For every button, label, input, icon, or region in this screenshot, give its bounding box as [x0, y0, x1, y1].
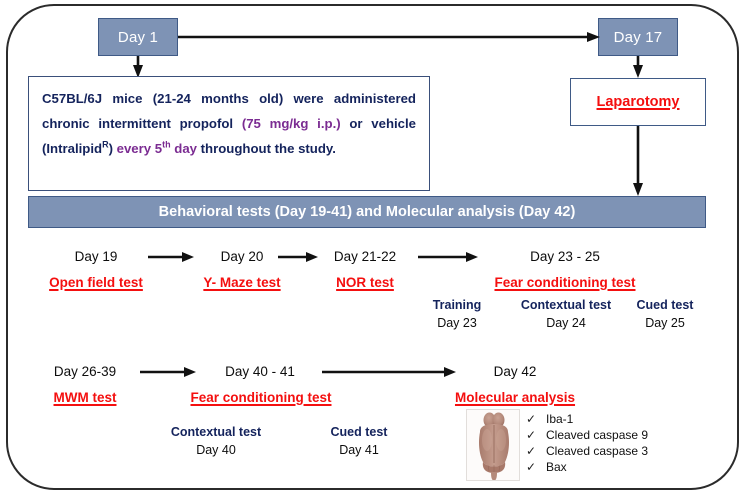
protocol-seg-close: )	[109, 141, 117, 156]
t2-sub-1-name: Cued test	[316, 423, 402, 441]
protocol-text: C57BL/6J mice (21-24 months old) were ad…	[42, 86, 416, 161]
t1-step-2-test: NOR test	[308, 274, 422, 292]
marker-label: Cleaved caspase 9	[546, 428, 648, 443]
laparotomy-label: Laparotomy	[597, 94, 680, 110]
t1-step-0-day: Day 19	[42, 248, 150, 266]
arrow-laparotomy-to-banner	[631, 126, 645, 196]
t2-step-0-day: Day 26-39	[30, 363, 140, 381]
check-icon: ✓	[526, 444, 546, 459]
t2-step-1-test: Fear conditioning test	[148, 389, 374, 407]
arrow-day17-to-laparotomy	[631, 56, 645, 78]
day17-box: Day 17	[598, 18, 678, 56]
t1-sub-1-name: Contextual test	[508, 296, 624, 314]
t1-sub-0-day: Day 23	[410, 314, 504, 332]
protocol-seg-every5: every 5	[117, 141, 162, 156]
t2-step-1-day: Day 40 - 41	[198, 363, 322, 381]
protocol-seg-dose: (75 mg/kg i.p.)	[242, 116, 341, 131]
list-item: ✓ Bax	[526, 460, 716, 475]
protocol-seg-day: day	[171, 141, 197, 156]
t2-sub-0-day: Day 40	[158, 441, 274, 459]
behavioral-tests-banner: Behavioral tests (Day 19-41) and Molecul…	[28, 196, 706, 228]
arrow-day1-to-day17	[178, 30, 600, 44]
t1-step-2-day: Day 21-22	[310, 248, 420, 266]
marker-label: Cleaved caspase 3	[546, 444, 648, 459]
t1-step-1-test: Y- Maze test	[178, 274, 306, 292]
t2-step-2-test: Molecular analysis	[420, 389, 610, 407]
t2-step-0-test: MWM test	[32, 389, 138, 407]
day17-label: Day 17	[614, 29, 663, 46]
t2-sub-0-name: Contextual test	[158, 423, 274, 441]
t1-step-3-day: Day 23 - 25	[490, 248, 640, 266]
check-icon: ✓	[526, 412, 546, 427]
arrow-day1-to-protocol	[131, 56, 145, 78]
t1-step-3-test: Fear conditioning test	[452, 274, 678, 292]
t2-arrow-1	[322, 365, 456, 379]
protocol-seg-tail: throughout the study.	[197, 141, 336, 156]
t1-sub-1-day: Day 24	[508, 314, 624, 332]
t2-sub-1-day: Day 41	[316, 441, 402, 459]
t1-step-0-test: Open field test	[32, 274, 160, 292]
day1-label: Day 1	[118, 29, 158, 46]
check-icon: ✓	[526, 428, 546, 443]
molecular-marker-checklist: ✓ Iba-1 ✓ Cleaved caspase 9 ✓ Cleaved ca…	[526, 412, 716, 475]
list-item: ✓ Iba-1	[526, 412, 716, 427]
list-item: ✓ Cleaved caspase 9	[526, 428, 716, 443]
protocol-sup-th: th	[162, 140, 171, 150]
t1-sub-2-name: Cued test	[622, 296, 708, 314]
t2-step-2-day: Day 42	[460, 363, 570, 381]
check-icon: ✓	[526, 460, 546, 475]
figure-canvas: Day 1 Day 17 Laparotomy	[0, 0, 750, 497]
brain-illustration	[467, 410, 520, 481]
t1-arrow-0	[148, 250, 194, 264]
day1-box: Day 1	[98, 18, 178, 56]
t1-arrow-2	[418, 250, 478, 264]
banner-label: Behavioral tests (Day 19-41) and Molecul…	[159, 204, 576, 220]
protocol-description-box: C57BL/6J mice (21-24 months old) were ad…	[28, 76, 430, 191]
mouse-brain-image	[466, 409, 520, 481]
t1-sub-0-name: Training	[410, 296, 504, 314]
t2-arrow-0	[140, 365, 196, 379]
marker-label: Iba-1	[546, 412, 573, 427]
laparotomy-box: Laparotomy	[570, 78, 706, 126]
t1-arrow-1	[278, 250, 318, 264]
list-item: ✓ Cleaved caspase 3	[526, 444, 716, 459]
t1-sub-2-day: Day 25	[622, 314, 708, 332]
marker-label: Bax	[546, 460, 567, 475]
